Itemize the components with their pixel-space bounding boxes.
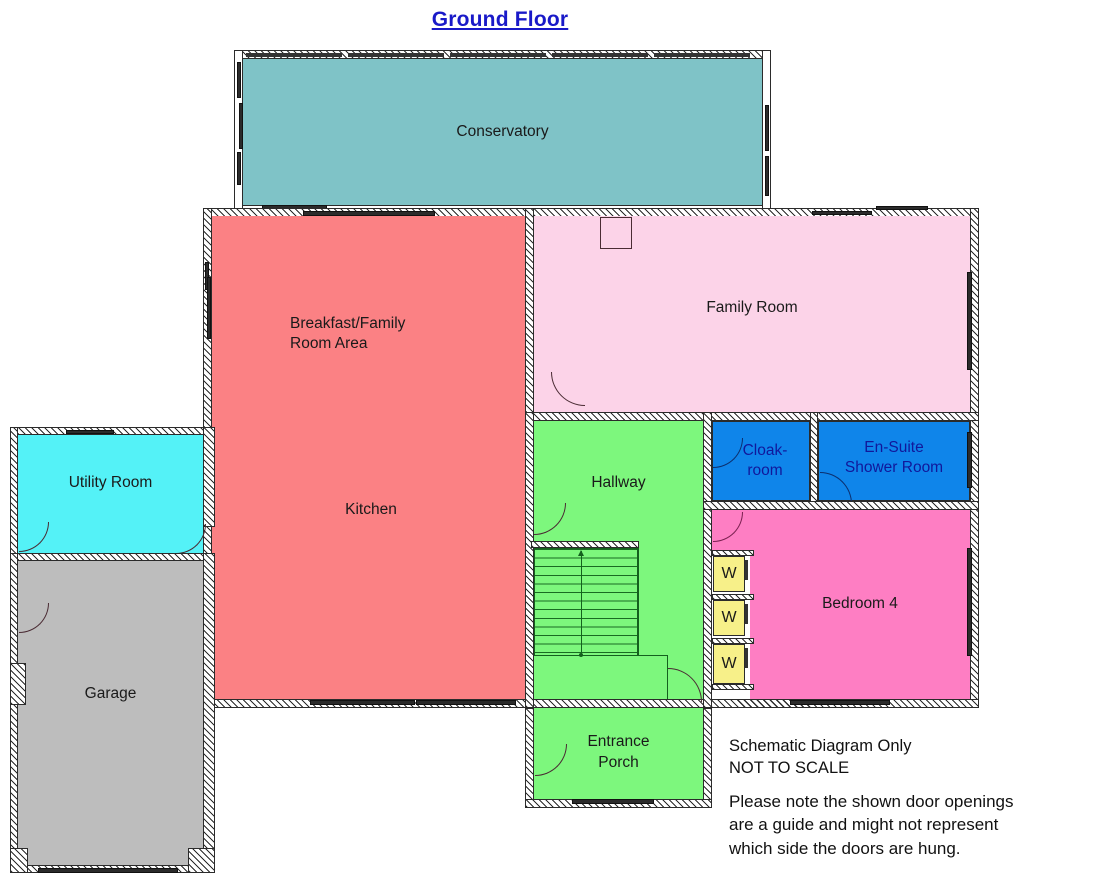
room-label-utility-room: Utility Room <box>69 473 153 493</box>
garage-door-opening <box>38 868 178 873</box>
wall-garage-corner-left <box>10 848 28 873</box>
window-bedroom-4-bottom <box>790 700 890 705</box>
wall-hallway-left <box>525 412 534 708</box>
stair-stringer <box>638 548 639 656</box>
wardrobe-label-2: W <box>721 609 736 627</box>
window-conservatory-top-1 <box>246 53 342 57</box>
wall-family-room-bottom <box>525 412 979 421</box>
wall-garage-left <box>10 553 18 873</box>
wall-cloakroom-right <box>810 412 818 510</box>
window-kitchen-bottom <box>310 700 415 705</box>
window-family-room-top-2 <box>876 206 928 210</box>
wall-garage-pier <box>10 663 26 705</box>
door-family-room-top <box>600 217 632 249</box>
room-label-breakfast-family-area: Breakfast/Family Room Area <box>290 314 405 355</box>
window-conservatory-right-2 <box>765 156 769 196</box>
window-porch-bottom <box>572 799 654 804</box>
note-schematic-disclaimer: Schematic Diagram Only NOT TO SCALE <box>729 735 1069 780</box>
window-conservatory-top-2 <box>348 53 444 57</box>
room-label-garage: Garage <box>85 684 137 704</box>
room-conservatory[interactable]: Conservatory <box>242 58 763 206</box>
wall-porch-right <box>703 708 712 808</box>
window-breakfast-left-2 <box>207 277 211 339</box>
page-title: Ground Floor <box>0 8 1000 32</box>
wardrobe-1[interactable]: W <box>713 556 745 592</box>
room-label-entrance-porch: Entrance Porch <box>587 732 649 773</box>
wall-utility-bottom <box>10 553 215 561</box>
room-label-kitchen: Kitchen <box>345 500 397 520</box>
wall-wardrobe-3-bottom <box>712 684 754 690</box>
room-breakfast-family-area[interactable]: Breakfast/Family Room Area <box>212 216 530 431</box>
wardrobe-label-1: W <box>721 565 736 583</box>
room-label-family-room: Family Room <box>706 298 797 318</box>
window-family-room-right <box>967 272 972 370</box>
wardrobe-2-door-edge <box>745 604 748 624</box>
room-kitchen[interactable]: Kitchen <box>212 431 530 699</box>
wall-utility-left <box>10 427 18 557</box>
window-ensuite-right <box>967 432 972 488</box>
room-label-bedroom-4: Bedroom 4 <box>822 594 898 614</box>
wall-ensuite-bottom <box>703 501 979 510</box>
room-label-conservatory: Conservatory <box>456 122 548 142</box>
wardrobe-3-door-edge <box>745 648 748 668</box>
wall-family-room-left <box>525 208 534 420</box>
wardrobe-2[interactable]: W <box>713 600 745 636</box>
wardrobe-3[interactable]: W <box>713 644 745 684</box>
window-family-room-top <box>812 211 872 215</box>
window-bedroom-4-right <box>967 548 972 656</box>
wall-stair-head <box>531 541 639 548</box>
window-conservatory-top-5 <box>654 53 750 57</box>
floor-plan-page: { "title": "Ground Floor", "colors": { "… <box>0 0 1096 880</box>
wall-garage-corner-right <box>188 848 215 873</box>
wardrobe-1-door-edge <box>745 560 748 580</box>
wall-porch-left <box>525 708 534 808</box>
stair-landing-edge <box>638 655 668 656</box>
room-label-cloakroom: Cloak- room <box>743 441 788 482</box>
window-conservatory-left-1 <box>237 62 241 98</box>
note-door-openings: Please note the shown door openings are … <box>729 790 1089 860</box>
window-conservatory-top-3 <box>450 53 546 57</box>
stair-direction-arrow <box>581 551 582 655</box>
room-bedroom-4[interactable]: Bedroom 4 <box>750 510 970 699</box>
wall-utility-right <box>203 427 215 527</box>
window-conservatory-left-3 <box>237 152 241 185</box>
window-utility-top <box>66 430 114 434</box>
window-conservatory-left-2 <box>239 103 243 149</box>
wall-garage-right <box>203 553 215 873</box>
window-conservatory-top-4 <box>552 53 648 57</box>
wardrobe-label-3: W <box>721 655 736 673</box>
window-kitchen-top <box>303 211 435 216</box>
wall-hallway-right <box>703 412 712 708</box>
window-conservatory-right-1 <box>765 105 769 151</box>
room-label-ensuite-shower-room: En-Suite Shower Room <box>845 438 943 479</box>
window-kitchen-bottom-2 <box>416 700 516 705</box>
room-label-hallway: Hallway <box>591 473 645 493</box>
stairs-hallway <box>534 548 638 656</box>
